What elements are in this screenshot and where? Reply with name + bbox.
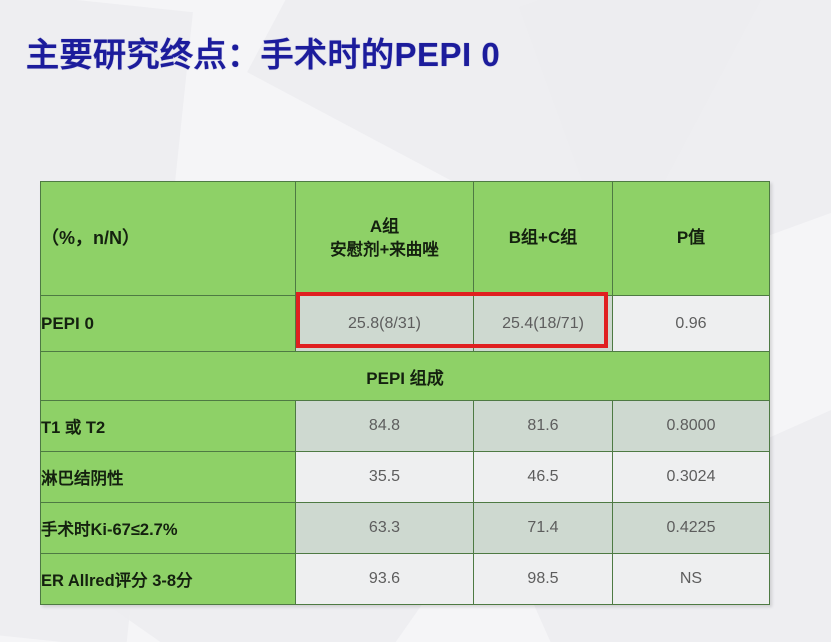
table-row: ER Allred评分 3-8分 93.6 98.5 NS <box>41 554 770 605</box>
column-header-p-value: P值 <box>613 182 770 296</box>
cell-t1-t2-group-bc: 81.6 <box>474 401 613 452</box>
column-header-group-a: A组 安慰剂+来曲唑 <box>296 182 474 296</box>
row-label-er-allred: ER Allred评分 3-8分 <box>41 554 296 605</box>
table-row: 淋巴结阴性 35.5 46.5 0.3024 <box>41 452 770 503</box>
cell-node-negative-group-a: 35.5 <box>296 452 474 503</box>
table-section-row: PEPI 组成 <box>41 352 770 401</box>
table-row-pepi0: PEPI 0 25.8(8/31) 25.4(18/71) 0.96 <box>41 296 770 352</box>
cell-pepi0-group-a: 25.8(8/31) <box>296 296 474 352</box>
column-header-group-a-line1: A组 <box>370 217 399 236</box>
cell-t1-t2-p-value: 0.8000 <box>613 401 770 452</box>
column-header-group-a-line2: 安慰剂+来曲唑 <box>296 239 473 261</box>
cell-ki67-group-bc: 71.4 <box>474 503 613 554</box>
cell-node-negative-group-bc: 46.5 <box>474 452 613 503</box>
page-title: 主要研究终点：手术时的PEPI 0 <box>26 28 500 76</box>
row-label-ki67: 手术时Ki-67≤2.7% <box>41 503 296 554</box>
cell-pepi0-p-value: 0.96 <box>613 296 770 352</box>
column-header-group-bc: B组+C组 <box>474 182 613 296</box>
cell-er-allred-group-a: 93.6 <box>296 554 474 605</box>
row-label-node-negative: 淋巴结阴性 <box>41 452 296 503</box>
section-title-pepi-composition: PEPI 组成 <box>41 352 770 401</box>
table-header-row: （%，n/N） A组 安慰剂+来曲唑 B组+C组 P值 <box>41 182 770 296</box>
cell-t1-t2-group-a: 84.8 <box>296 401 474 452</box>
cell-pepi0-group-bc: 25.4(18/71) <box>474 296 613 352</box>
column-header-metric: （%，n/N） <box>41 182 296 296</box>
cell-ki67-group-a: 63.3 <box>296 503 474 554</box>
cell-er-allred-group-bc: 98.5 <box>474 554 613 605</box>
cell-ki67-p-value: 0.4225 <box>613 503 770 554</box>
table-row: T1 或 T2 84.8 81.6 0.8000 <box>41 401 770 452</box>
row-label-t1-t2: T1 或 T2 <box>41 401 296 452</box>
cell-er-allred-p-value: NS <box>613 554 770 605</box>
table-row: 手术时Ki-67≤2.7% 63.3 71.4 0.4225 <box>41 503 770 554</box>
row-label-pepi0: PEPI 0 <box>41 296 296 352</box>
cell-node-negative-p-value: 0.3024 <box>613 452 770 503</box>
results-table: （%，n/N） A组 安慰剂+来曲唑 B组+C组 P值 PEPI 0 25.8(… <box>40 181 770 605</box>
